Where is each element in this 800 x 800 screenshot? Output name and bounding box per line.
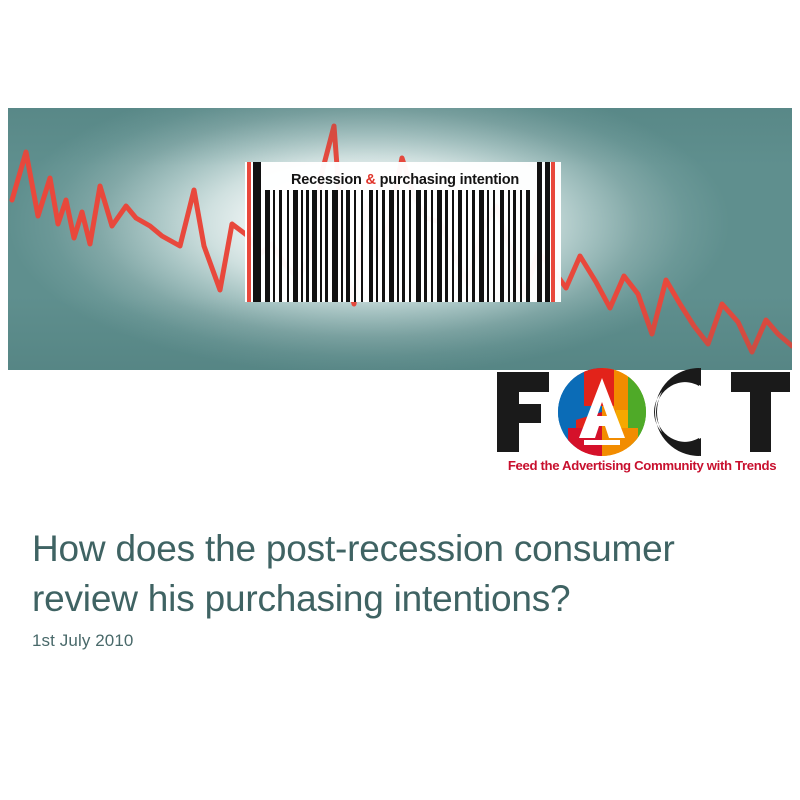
fact-tagline: Feed the Advertising Community with Tren… [494, 458, 790, 473]
slide-page: { "page": { "background": "#ffffff", "wi… [0, 0, 800, 800]
barcode-title: Recession & purchasing intention [260, 170, 550, 190]
barcode-graphic: Recession & purchasing intention [237, 162, 567, 302]
barcode-title-ampersand: & [366, 172, 376, 188]
page-title-line-2: review his purchasing intentions? [32, 574, 762, 624]
page-title: How does the post-recession consumer rev… [32, 524, 762, 624]
page-title-line-1: How does the post-recession consumer [32, 524, 762, 574]
letter-c-icon [654, 368, 743, 456]
publication-date: 1st July 2010 [32, 629, 133, 653]
barcode-title-prefix: Recession [291, 172, 366, 188]
letter-f-icon [497, 372, 549, 452]
barcode-title-suffix: purchasing intention [376, 172, 519, 188]
letter-a-colorwheel-icon [556, 368, 650, 458]
letter-t-icon [731, 372, 790, 452]
hero-banner: Recession & purchasing intention [8, 108, 792, 370]
fact-logo: Feed the Advertising Community with Tren… [488, 366, 792, 478]
fact-wordmark-icon [488, 366, 792, 458]
